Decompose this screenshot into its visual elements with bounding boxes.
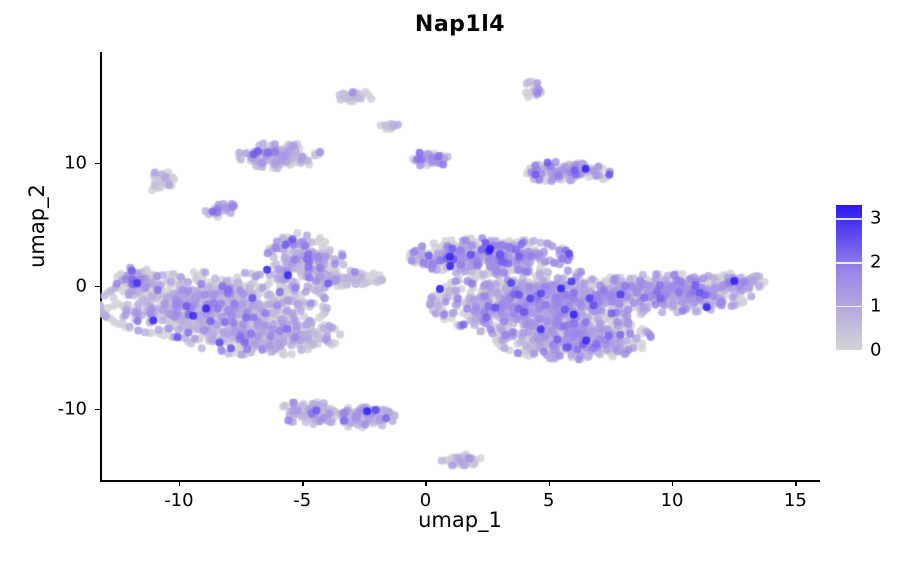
scatter-points-canvas — [100, 52, 820, 480]
y-tick-mark — [95, 286, 100, 287]
x-axis-label: umap_1 — [100, 508, 820, 532]
colorbar-tick-label: 3 — [870, 208, 881, 229]
colorbar-tick-label: 0 — [870, 340, 881, 361]
plot-axes-area: -10-5051015 100-10 — [100, 52, 820, 480]
x-tick-mark — [302, 481, 303, 486]
umap-feature-plot-figure: Nap1l4 -10-5051015 100-10 umap_1 umap_2 … — [0, 0, 911, 562]
x-tick-mark — [179, 481, 180, 486]
y-tick-label: 10 — [64, 152, 87, 173]
x-tick-mark — [549, 481, 550, 486]
page-title: Nap1l4 — [100, 12, 820, 37]
x-tick-mark — [425, 481, 426, 486]
y-axis-label: umap_2 — [25, 126, 49, 326]
x-tick-mark — [672, 481, 673, 486]
y-tick-label: 0 — [76, 275, 87, 296]
colorbar-tick-label: 2 — [870, 252, 881, 273]
colorbar-tick-mark — [836, 218, 862, 219]
colorbar-gradient — [836, 205, 862, 350]
colorbar-tick-mark — [836, 350, 862, 351]
colorbar-tick-mark — [836, 262, 862, 263]
colorbar-tick-mark — [836, 306, 862, 307]
y-tick-label: -10 — [58, 398, 87, 419]
y-tick-mark — [95, 163, 100, 164]
colorbar-legend: 0123 — [836, 205, 906, 350]
colorbar-tick-label: 1 — [870, 296, 881, 317]
x-axis-spine — [100, 480, 820, 482]
y-tick-mark — [95, 409, 100, 410]
x-tick-mark — [795, 481, 796, 486]
